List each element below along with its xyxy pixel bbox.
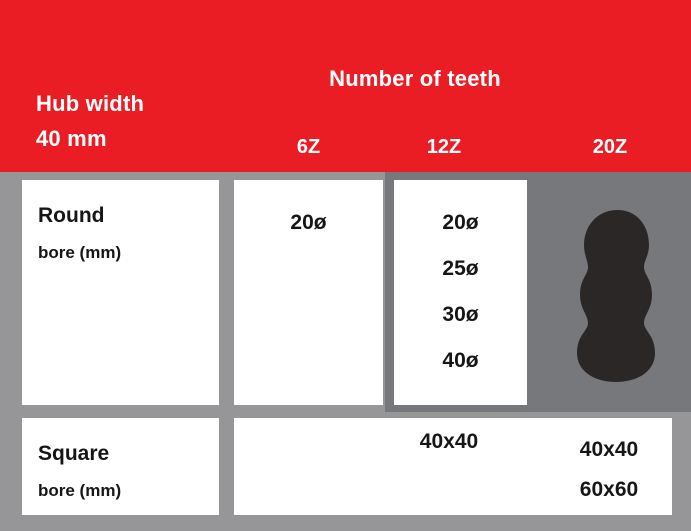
row-label-round-sub: bore (mm) [38, 243, 121, 262]
column-header-20z: 20Z [560, 136, 660, 159]
hub-width-line1: Hub width [36, 91, 144, 116]
value-square-12z: 40x40 [394, 430, 504, 454]
value-list-round-6z: 20ø [234, 180, 383, 246]
value-item: 30ø [394, 292, 527, 338]
value-item: 25ø [394, 246, 527, 292]
value-item: 40x40 [554, 430, 664, 470]
cell-round-bore-12z: 20ø 25ø 30ø 40ø [394, 180, 527, 405]
redaction-blob [570, 205, 662, 385]
value-list-round-12z: 20ø 25ø 30ø 40ø [394, 180, 527, 384]
cell-square-bore-values: 40x40 40x40 60x60 [234, 418, 672, 515]
row-label-square-main: Square [38, 442, 109, 465]
row-label-square-bore: Square bore (mm) [22, 418, 219, 515]
row-label-square-sub: bore (mm) [38, 481, 121, 500]
row-label-round-bore: Round bore (mm) [22, 180, 219, 405]
number-of-teeth-title: Number of teeth [250, 66, 580, 92]
hub-width-line2: 40 mm [36, 121, 144, 156]
hub-width-label: Hub width 40 mm [36, 86, 144, 156]
value-item: 40ø [394, 338, 527, 384]
value-square-20z: 40x40 60x60 [554, 430, 664, 510]
column-header-12z: 12Z [394, 136, 494, 159]
header-band: Hub width 40 mm Number of teeth 6Z 12Z 2… [0, 0, 691, 172]
column-header-6z: 6Z [234, 136, 383, 159]
value-item: 20ø [394, 200, 527, 246]
value-item: 60x60 [554, 470, 664, 510]
row-label-round-main: Round [38, 204, 104, 227]
spec-table-root: Hub width 40 mm Number of teeth 6Z 12Z 2… [0, 0, 691, 531]
value-item: 20ø [234, 200, 383, 246]
cell-round-bore-6z: 20ø [234, 180, 383, 405]
value-item: 40x40 [420, 430, 478, 453]
